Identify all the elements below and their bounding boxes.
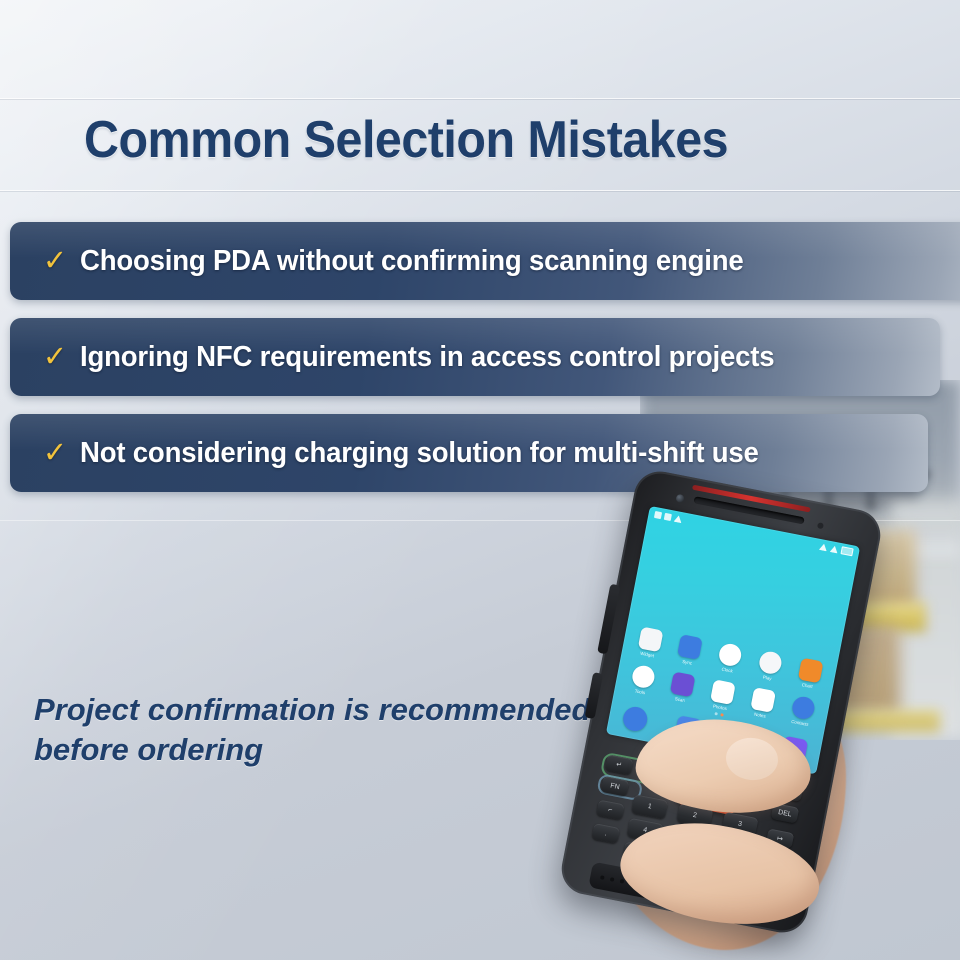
caption-line-1: Project confirmation is recommended xyxy=(34,690,634,730)
key-1[interactable]: 1 xyxy=(631,794,668,819)
mistake-bar-2[interactable]: ✓ Ignoring NFC requirements in access co… xyxy=(10,318,940,396)
divider-line-top-shadow xyxy=(0,99,960,100)
app-label: Chart xyxy=(801,682,813,689)
sync-icon xyxy=(664,512,672,520)
play-store-icon xyxy=(757,650,783,676)
mistake-bar-3-label: Not considering charging solution for mu… xyxy=(80,437,759,470)
app-icon-contacts[interactable]: Contacts xyxy=(783,694,821,729)
key-5[interactable]: 5 xyxy=(672,827,709,852)
divider-line-under-title-shadow xyxy=(0,191,960,192)
app-icon-widget[interactable]: Widget xyxy=(631,625,669,660)
page-dot xyxy=(714,712,718,716)
app-icon-scan[interactable]: Scan xyxy=(663,670,701,705)
esc-key[interactable]: ESC xyxy=(775,781,804,802)
tools-app-icon xyxy=(630,664,656,690)
contacts-app-icon xyxy=(790,695,816,721)
key-9[interactable]: 9 xyxy=(712,859,749,884)
screw-icon xyxy=(620,879,625,884)
status-bar-left-icons xyxy=(654,510,683,522)
key-6[interactable]: 6 xyxy=(717,835,754,860)
recommendation-caption: Project confirmation is recommended befo… xyxy=(34,690,634,769)
notes-app-icon xyxy=(750,687,776,713)
status-bar-right-icons xyxy=(819,542,854,556)
mistake-bar-1-label: Choosing PDA without confirming scanning… xyxy=(80,245,743,278)
app-label: Play xyxy=(762,675,772,682)
screw-icon xyxy=(600,875,605,880)
app-icon-play[interactable]: Play xyxy=(751,649,789,684)
key-3[interactable]: 3 xyxy=(721,812,758,837)
calculator-icon[interactable] xyxy=(674,715,702,743)
caption-line-2: before ordering xyxy=(34,730,634,770)
app-icon-sync[interactable]: Sync xyxy=(671,633,709,668)
checkmark-icon: ✓ xyxy=(32,247,78,276)
app-icon-chart[interactable]: Chart xyxy=(791,656,829,691)
wifi-icon xyxy=(830,545,839,553)
enter-key[interactable]: ⌐ xyxy=(596,800,625,821)
photos-app-icon xyxy=(710,679,736,705)
checkmark-icon: ✓ xyxy=(32,343,78,372)
app-icon-photos[interactable]: Photos xyxy=(703,678,741,713)
app-label: Notes xyxy=(754,712,767,719)
chrome-icon[interactable] xyxy=(727,725,755,753)
usb-icon xyxy=(654,510,662,518)
barcode-scan-icon xyxy=(670,672,696,698)
mistake-bar-2-label: Ignoring NFC requirements in access cont… xyxy=(80,341,774,374)
app-icon-tools[interactable]: Tools xyxy=(623,663,661,698)
page-title: Common Selection Mistakes xyxy=(84,110,728,170)
signal-icon xyxy=(819,543,828,551)
app-label: Photos xyxy=(713,704,728,712)
scan-key-bar-icon xyxy=(691,776,730,792)
mistake-bar-3[interactable]: ✓ Not considering charging solution for … xyxy=(10,414,928,492)
sync-app-icon xyxy=(677,634,703,660)
pda-touchscreen[interactable]: Widget Sync Clock Play xyxy=(606,506,860,775)
app-label: Contacts xyxy=(791,719,809,727)
dot-key[interactable]: . xyxy=(592,823,621,844)
key-7[interactable]: 7 xyxy=(622,841,659,866)
chart-app-icon xyxy=(797,658,823,684)
key-4[interactable]: 4 xyxy=(627,818,664,843)
app-label: Sync xyxy=(682,659,693,666)
alert-icon xyxy=(674,514,683,522)
app-label: Scan xyxy=(674,696,685,703)
app-icon-notes[interactable]: Notes xyxy=(743,686,781,721)
mistake-bar-1[interactable]: ✓ Choosing PDA without confirming scanni… xyxy=(10,222,960,300)
app-label: Tools xyxy=(634,688,645,695)
key-8[interactable]: 8 xyxy=(667,850,704,875)
poster-canvas: Common Selection Mistakes ✓ Choosing PDA… xyxy=(0,0,960,960)
del-key[interactable]: DEL xyxy=(771,803,800,824)
phone-icon[interactable] xyxy=(621,705,649,733)
app-icon-clock[interactable]: Clock xyxy=(711,641,749,676)
tab-key[interactable]: ↦ xyxy=(766,828,795,849)
checkmark-icon: ✓ xyxy=(32,439,78,468)
screw-icon xyxy=(610,877,615,882)
battery-icon xyxy=(840,546,853,556)
key-0[interactable]: 0 xyxy=(760,856,797,881)
page-dot-active xyxy=(720,713,724,717)
app-label: Clock xyxy=(721,667,733,674)
camera-icon[interactable] xyxy=(780,736,808,764)
app-label: Widget xyxy=(640,651,655,659)
clock-app-icon xyxy=(717,642,743,668)
widget-folder-icon xyxy=(637,626,663,652)
